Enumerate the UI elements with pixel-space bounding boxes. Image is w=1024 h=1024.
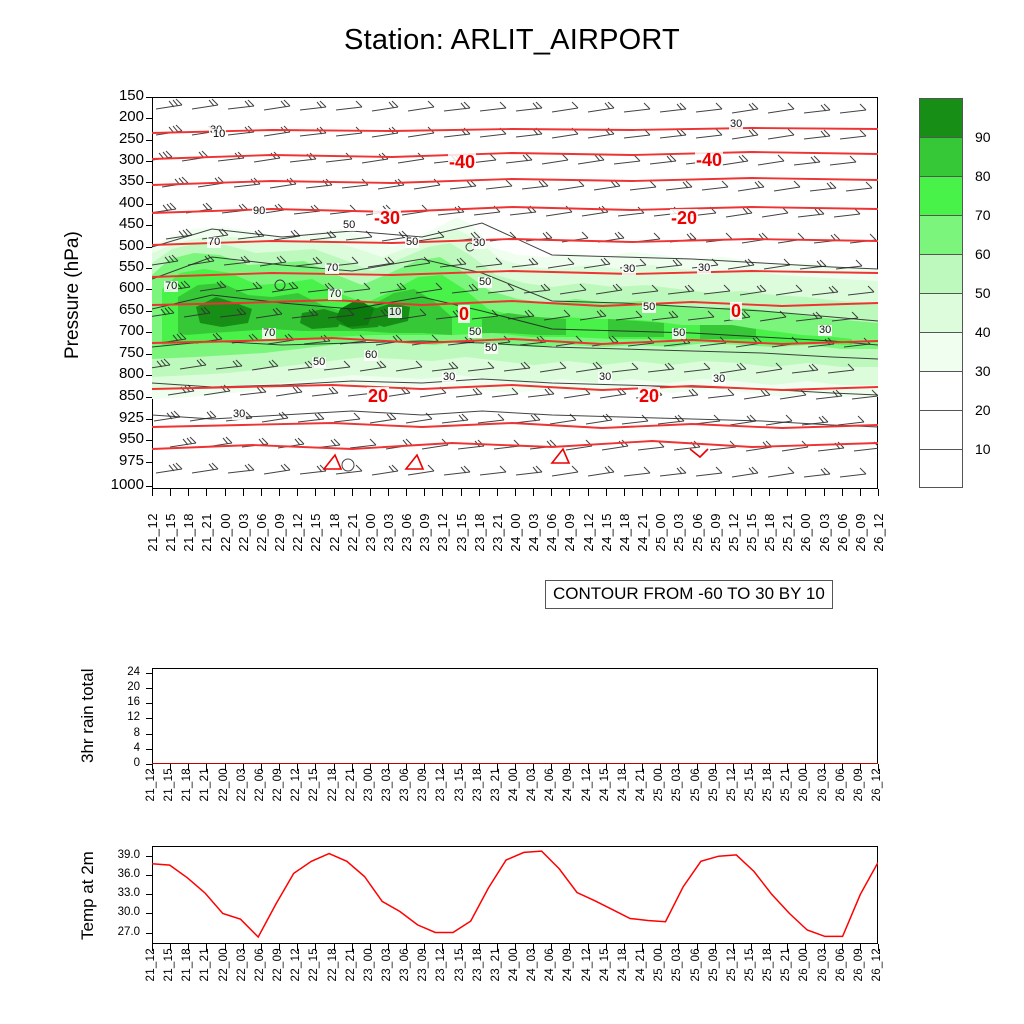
- time-tick-main-23_12: 23_12: [435, 513, 450, 552]
- time-tick-rain-24_12: 24_12: [581, 768, 593, 801]
- temp-contour-label-0: 0: [730, 302, 742, 320]
- colorbar-band-1[interactable]: [919, 137, 963, 176]
- temp-tick-mark: [146, 933, 152, 934]
- time-tick-temp-21_21: 21_21: [199, 948, 211, 981]
- time-tick-rain-23_12: 23_12: [435, 768, 447, 801]
- time-tick-rain-23_15: 23_15: [454, 768, 466, 801]
- time-tick-mark: [334, 489, 335, 496]
- pressure-tick-mark: [146, 118, 152, 119]
- rh-contour-label-30: 30: [697, 263, 711, 274]
- time-tick-rain-22_03: 22_03: [236, 768, 248, 801]
- rain-tick-24: 24: [96, 667, 140, 679]
- time-tick-mark: [370, 764, 371, 771]
- temp-contour-label-0: 0: [458, 305, 470, 323]
- rh-contour-label-90: 90: [252, 206, 266, 217]
- time-tick-mark: [370, 489, 371, 496]
- rh-contour-label-10: 10: [388, 307, 402, 318]
- rh-contour-label-30: 30: [818, 325, 832, 336]
- pressure-tick-mark: [146, 140, 152, 141]
- time-tick-rain-26_09: 26_09: [853, 768, 865, 801]
- pressure-tick-150: 150: [96, 88, 144, 103]
- time-tick-rain-24_18: 24_18: [617, 768, 629, 801]
- time-tick-temp-21_18: 21_18: [181, 948, 193, 981]
- time-tick-temp-22_15: 22_15: [308, 948, 320, 981]
- time-tick-temp-25_12: 25_12: [726, 948, 738, 981]
- colorbar-band-6[interactable]: [919, 332, 963, 371]
- time-tick-main-23_00: 23_00: [363, 513, 378, 552]
- time-tick-temp-26_12: 26_12: [871, 948, 883, 981]
- temp-tick-27.0: 27.0: [90, 927, 140, 939]
- pressure-tick-mark: [146, 225, 152, 226]
- time-tick-mark: [569, 944, 570, 951]
- rain-tick-0: 0: [96, 758, 140, 770]
- time-tick-rain-23_21: 23_21: [490, 768, 502, 801]
- time-tick-mark: [170, 489, 171, 496]
- colorbar-label-10: 10: [975, 442, 991, 456]
- pressure-tick-mark: [146, 204, 152, 205]
- rh-contour-label-70: 70: [164, 281, 178, 292]
- rain-tick-mark: [146, 734, 152, 735]
- time-tick-temp-24_03: 24_03: [526, 948, 538, 981]
- time-tick-mark: [860, 944, 861, 951]
- time-tick-mark: [606, 944, 607, 951]
- pressure-tick-250: 250: [96, 131, 144, 146]
- rain-tick-16: 16: [96, 697, 140, 709]
- colorbar-band-0[interactable]: [919, 98, 963, 137]
- temp-tick-mark: [146, 894, 152, 895]
- colorbar-label-90: 90: [975, 130, 991, 144]
- time-tick-mark: [515, 489, 516, 496]
- time-tick-main-26_03: 26_03: [817, 513, 832, 552]
- time-tick-mark: [624, 764, 625, 771]
- time-tick-temp-21_15: 21_15: [163, 948, 175, 981]
- time-tick-mark: [624, 489, 625, 496]
- time-tick-mark: [352, 764, 353, 771]
- time-tick-temp-24_12: 24_12: [581, 948, 593, 981]
- colorbar-label-80: 80: [975, 169, 991, 183]
- time-tick-mark: [170, 764, 171, 771]
- rain-tick-12: 12: [96, 712, 140, 724]
- time-tick-mark: [588, 944, 589, 951]
- time-tick-main-26_12: 26_12: [871, 513, 886, 552]
- rh-contour-label-50: 50: [468, 327, 482, 338]
- time-tick-mark: [824, 944, 825, 951]
- rain-axis-label: 3hr rain total: [78, 652, 98, 780]
- pressure-tick-mark: [146, 289, 152, 290]
- time-tick-temp-23_15: 23_15: [454, 948, 466, 981]
- time-tick-rain-25_12: 25_12: [726, 768, 738, 801]
- time-tick-mark: [860, 764, 861, 771]
- time-tick-rain-23_00: 23_00: [363, 768, 375, 801]
- time-tick-mark: [297, 944, 298, 951]
- time-tick-temp-24_18: 24_18: [617, 948, 629, 981]
- time-tick-mark: [551, 944, 552, 951]
- time-tick-temp-21_12: 21_12: [145, 948, 157, 981]
- rh-contour-label-70: 70: [207, 237, 221, 248]
- time-tick-mark: [751, 764, 752, 771]
- rain-tick-mark: [146, 688, 152, 689]
- time-tick-mark: [642, 944, 643, 951]
- time-tick-main-24_21: 24_21: [635, 513, 650, 552]
- time-tick-main-25_12: 25_12: [726, 513, 741, 552]
- pressure-tick-950: 950: [96, 431, 144, 446]
- time-tick-temp-24_09: 24_09: [562, 948, 574, 981]
- time-tick-temp-22_03: 22_03: [236, 948, 248, 981]
- time-tick-rain-22_12: 22_12: [290, 768, 302, 801]
- time-tick-main-22_09: 22_09: [272, 513, 287, 552]
- rh-contour-label-30: 30: [712, 374, 726, 385]
- time-tick-mark: [842, 944, 843, 951]
- time-tick-mark: [442, 489, 443, 496]
- pressure-tick-700: 700: [96, 323, 144, 338]
- time-tick-rain-21_18: 21_18: [181, 768, 193, 801]
- time-tick-temp-25_18: 25_18: [762, 948, 774, 981]
- time-tick-temp-26_06: 26_06: [835, 948, 847, 981]
- colorbar-band-3[interactable]: [919, 215, 963, 254]
- time-tick-mark: [660, 489, 661, 496]
- time-tick-mark: [678, 944, 679, 951]
- time-tick-mark: [279, 764, 280, 771]
- time-tick-rain-24_21: 24_21: [635, 768, 647, 801]
- time-tick-mark: [769, 489, 770, 496]
- time-tick-mark: [388, 764, 389, 771]
- rh-contour-label-50: 50: [312, 357, 326, 368]
- rh-contour-label-70: 70: [328, 289, 342, 300]
- time-tick-rain-21_15: 21_15: [163, 768, 175, 801]
- time-tick-rain-26_12: 26_12: [871, 768, 883, 801]
- time-tick-temp-26_03: 26_03: [817, 948, 829, 981]
- time-tick-temp-24_06: 24_06: [544, 948, 556, 981]
- time-tick-mark: [533, 764, 534, 771]
- time-tick-mark: [533, 944, 534, 951]
- temp-tick-30.0: 30.0: [90, 907, 140, 919]
- time-tick-mark: [406, 944, 407, 951]
- time-tick-main-21_15: 21_15: [163, 513, 178, 552]
- pressure-tick-mark: [146, 440, 152, 441]
- time-tick-mark: [315, 764, 316, 771]
- rain-series-graphics: [152, 668, 878, 764]
- time-tick-mark: [515, 764, 516, 771]
- time-tick-mark: [824, 489, 825, 496]
- relative-humidity-colorbar[interactable]: [919, 98, 963, 488]
- time-tick-mark: [279, 944, 280, 951]
- time-tick-rain-25_09: 25_09: [708, 768, 720, 801]
- time-tick-mark: [569, 489, 570, 496]
- time-tick-mark: [842, 764, 843, 771]
- colorbar-band-9[interactable]: [919, 449, 963, 488]
- rh-contour-label-30: 30: [598, 372, 612, 383]
- time-tick-rain-22_15: 22_15: [308, 768, 320, 801]
- time-tick-mark: [497, 489, 498, 496]
- rain-tick-mark: [146, 673, 152, 674]
- time-tick-mark: [188, 764, 189, 771]
- time-tick-mark: [624, 944, 625, 951]
- time-tick-main-23_03: 23_03: [381, 513, 396, 552]
- time-tick-main-21_18: 21_18: [181, 513, 196, 552]
- time-tick-temp-23_18: 23_18: [472, 948, 484, 981]
- time-tick-mark: [787, 489, 788, 496]
- time-tick-mark: [606, 764, 607, 771]
- time-tick-mark: [170, 944, 171, 951]
- pressure-tick-mark: [146, 397, 152, 398]
- time-tick-rain-26_03: 26_03: [817, 768, 829, 801]
- time-tick-rain-26_00: 26_00: [798, 768, 810, 801]
- time-tick-main-24_12: 24_12: [581, 513, 596, 552]
- rh-contour-label-60: 60: [364, 350, 378, 361]
- time-tick-main-24_06: 24_06: [544, 513, 559, 552]
- time-tick-mark: [406, 489, 407, 496]
- pressure-tick-mark: [146, 161, 152, 162]
- colorbar-band-7[interactable]: [919, 371, 963, 410]
- time-tick-mark: [733, 489, 734, 496]
- rain-tick-mark: [146, 718, 152, 719]
- time-tick-mark: [352, 489, 353, 496]
- time-tick-temp-25_21: 25_21: [780, 948, 792, 981]
- time-tick-temp-25_09: 25_09: [708, 948, 720, 981]
- temp-contour-label-20: 20: [638, 387, 660, 405]
- time-tick-rain-25_18: 25_18: [762, 768, 774, 801]
- rh-contour-label-50: 50: [478, 277, 492, 288]
- temperature-series-graphics: [152, 846, 878, 944]
- rh-contour-label-30: 30: [729, 119, 743, 130]
- temp-tick-mark: [146, 875, 152, 876]
- time-tick-rain-22_06: 22_06: [254, 768, 266, 801]
- time-tick-main-22_00: 22_00: [218, 513, 233, 552]
- time-tick-rain-22_21: 22_21: [345, 768, 357, 801]
- time-tick-main-22_06: 22_06: [254, 513, 269, 552]
- time-tick-mark: [787, 764, 788, 771]
- time-tick-mark: [352, 944, 353, 951]
- time-tick-mark: [551, 764, 552, 771]
- time-tick-mark: [606, 489, 607, 496]
- temp-contour-label--20: -20: [670, 209, 698, 227]
- time-tick-mark: [769, 944, 770, 951]
- pressure-tick-mark: [146, 354, 152, 355]
- time-tick-temp-22_18: 22_18: [327, 948, 339, 981]
- time-tick-mark: [424, 944, 425, 951]
- time-tick-mark: [406, 764, 407, 771]
- pressure-tick-mark: [146, 97, 152, 98]
- time-tick-rain-24_06: 24_06: [544, 768, 556, 801]
- time-tick-main-24_00: 24_00: [508, 513, 523, 552]
- rh-contour-label-50: 50: [342, 220, 356, 231]
- rain-tick-mark: [146, 749, 152, 750]
- time-tick-rain-24_00: 24_00: [508, 768, 520, 801]
- rain-tick-20: 20: [96, 682, 140, 694]
- time-tick-temp-22_00: 22_00: [218, 948, 230, 981]
- time-tick-mark: [697, 764, 698, 771]
- rh-contour-label-30: 30: [472, 238, 486, 249]
- pressure-tick-mark: [146, 419, 152, 420]
- time-tick-mark: [733, 764, 734, 771]
- rh-contour-label-50: 50: [484, 343, 498, 354]
- time-tick-mark: [206, 944, 207, 951]
- time-tick-mark: [805, 764, 806, 771]
- pressure-tick-975: 975: [96, 453, 144, 468]
- time-tick-mark: [697, 489, 698, 496]
- time-tick-rain-25_21: 25_21: [780, 768, 792, 801]
- time-tick-rain-23_18: 23_18: [472, 768, 484, 801]
- temp-contour-label-10: 10: [212, 129, 226, 140]
- time-tick-temp-26_00: 26_00: [798, 948, 810, 981]
- time-tick-rain-23_06: 23_06: [399, 768, 411, 801]
- time-tick-temp-23_09: 23_09: [417, 948, 429, 981]
- time-tick-mark: [697, 944, 698, 951]
- temp-tick-33.0: 33.0: [90, 888, 140, 900]
- time-tick-main-23_06: 23_06: [399, 513, 414, 552]
- time-tick-mark: [461, 944, 462, 951]
- time-tick-temp-23_06: 23_06: [399, 948, 411, 981]
- pressure-tick-850: 850: [96, 388, 144, 403]
- time-tick-mark: [733, 944, 734, 951]
- time-tick-main-24_18: 24_18: [617, 513, 632, 552]
- time-tick-mark: [315, 944, 316, 951]
- time-tick-mark: [842, 489, 843, 496]
- pressure-tick-200: 200: [96, 109, 144, 124]
- pressure-tick-550: 550: [96, 259, 144, 274]
- time-tick-temp-22_12: 22_12: [290, 948, 302, 981]
- time-tick-main-25_03: 25_03: [671, 513, 686, 552]
- time-tick-mark: [442, 764, 443, 771]
- time-tick-mark: [461, 764, 462, 771]
- time-tick-main-25_00: 25_00: [653, 513, 668, 552]
- pressure-tick-925: 925: [96, 410, 144, 425]
- pressure-tick-mark: [146, 375, 152, 376]
- rh-contour-label-50: 50: [405, 237, 419, 248]
- time-tick-mark: [188, 944, 189, 951]
- time-tick-mark: [388, 944, 389, 951]
- time-tick-temp-24_21: 24_21: [635, 948, 647, 981]
- time-tick-main-26_00: 26_00: [798, 513, 813, 552]
- temp-contour-label--40: -40: [448, 153, 476, 171]
- time-tick-mark: [787, 944, 788, 951]
- time-tick-mark: [533, 489, 534, 496]
- time-tick-mark: [660, 944, 661, 951]
- pressure-tick-350: 350: [96, 173, 144, 188]
- colorbar-band-4[interactable]: [919, 254, 963, 293]
- cross-section-graphics: [152, 97, 878, 489]
- rh-contour-label-70: 70: [325, 263, 339, 274]
- time-tick-mark: [715, 944, 716, 951]
- time-tick-rain-22_09: 22_09: [272, 768, 284, 801]
- time-tick-main-22_21: 22_21: [345, 513, 360, 552]
- time-tick-mark: [206, 764, 207, 771]
- time-tick-mark: [461, 489, 462, 496]
- time-tick-main-22_18: 22_18: [327, 513, 342, 552]
- time-tick-temp-25_00: 25_00: [653, 948, 665, 981]
- time-tick-mark: [261, 764, 262, 771]
- time-tick-rain-21_12: 21_12: [145, 768, 157, 801]
- time-tick-mark: [388, 489, 389, 496]
- colorbar-band-2[interactable]: [919, 176, 963, 215]
- time-tick-mark: [678, 489, 679, 496]
- pressure-tick-mark: [146, 332, 152, 333]
- time-tick-mark: [497, 764, 498, 771]
- time-tick-rain-23_09: 23_09: [417, 768, 429, 801]
- time-tick-main-25_06: 25_06: [690, 513, 705, 552]
- time-tick-main-25_09: 25_09: [708, 513, 723, 552]
- time-tick-mark: [642, 764, 643, 771]
- time-tick-mark: [751, 944, 752, 951]
- time-tick-mark: [279, 489, 280, 496]
- colorbar-label-40: 40: [975, 325, 991, 339]
- pressure-tick-mark: [146, 268, 152, 269]
- time-tick-mark: [588, 764, 589, 771]
- time-tick-temp-22_09: 22_09: [272, 948, 284, 981]
- time-tick-rain-25_03: 25_03: [671, 768, 683, 801]
- pressure-tick-mark: [146, 486, 152, 487]
- time-tick-main-21_12: 21_12: [145, 513, 160, 552]
- pressure-tick-650: 650: [96, 302, 144, 317]
- colorbar-label-70: 70: [975, 208, 991, 222]
- rh-contour-label-30: 30: [232, 409, 246, 420]
- time-tick-mark: [152, 764, 153, 771]
- time-tick-mark: [424, 489, 425, 496]
- colorbar-label-50: 50: [975, 286, 991, 300]
- colorbar-band-8[interactable]: [919, 410, 963, 449]
- rh-contour-label-70: 70: [262, 328, 276, 339]
- time-tick-rain-26_06: 26_06: [835, 768, 847, 801]
- pressure-tick-mark: [146, 311, 152, 312]
- time-tick-mark: [188, 489, 189, 496]
- colorbar-band-5[interactable]: [919, 293, 963, 332]
- time-tick-rain-25_00: 25_00: [653, 768, 665, 801]
- time-tick-main-26_09: 26_09: [853, 513, 868, 552]
- time-tick-mark: [751, 489, 752, 496]
- time-tick-mark: [479, 764, 480, 771]
- time-tick-rain-23_03: 23_03: [381, 768, 393, 801]
- time-tick-mark: [315, 489, 316, 496]
- time-tick-main-25_18: 25_18: [762, 513, 777, 552]
- rh-contour-label-50: 50: [672, 328, 686, 339]
- time-tick-mark: [715, 489, 716, 496]
- rain-tick-8: 8: [96, 728, 140, 740]
- rh-contour-label-50: 50: [642, 302, 656, 313]
- time-tick-mark: [824, 764, 825, 771]
- pressure-tick-800: 800: [96, 366, 144, 381]
- temp-tick-36.0: 36.0: [90, 869, 140, 881]
- pressure-tick-400: 400: [96, 195, 144, 210]
- time-tick-temp-24_00: 24_00: [508, 948, 520, 981]
- time-tick-main-26_06: 26_06: [835, 513, 850, 552]
- time-tick-mark: [805, 944, 806, 951]
- time-tick-rain-22_00: 22_00: [218, 768, 230, 801]
- temp-tick-mark: [146, 913, 152, 914]
- time-tick-rain-24_09: 24_09: [562, 768, 574, 801]
- pressure-tick-300: 300: [96, 152, 144, 167]
- time-tick-mark: [479, 944, 480, 951]
- time-tick-mark: [225, 944, 226, 951]
- time-tick-mark: [715, 764, 716, 771]
- time-tick-mark: [660, 764, 661, 771]
- time-tick-mark: [206, 489, 207, 496]
- time-tick-mark: [261, 944, 262, 951]
- time-tick-mark: [297, 489, 298, 496]
- time-tick-main-24_03: 24_03: [526, 513, 541, 552]
- time-tick-mark: [370, 944, 371, 951]
- time-tick-mark: [243, 764, 244, 771]
- time-tick-temp-22_06: 22_06: [254, 948, 266, 981]
- time-tick-mark: [642, 489, 643, 496]
- time-tick-main-22_12: 22_12: [290, 513, 305, 552]
- colorbar-label-30: 30: [975, 364, 991, 378]
- time-tick-mark: [878, 764, 879, 771]
- temp-contour-label--40: -40: [695, 151, 723, 169]
- time-tick-mark: [152, 489, 153, 496]
- colorbar-label-20: 20: [975, 403, 991, 417]
- time-tick-main-25_21: 25_21: [780, 513, 795, 552]
- time-tick-temp-25_03: 25_03: [671, 948, 683, 981]
